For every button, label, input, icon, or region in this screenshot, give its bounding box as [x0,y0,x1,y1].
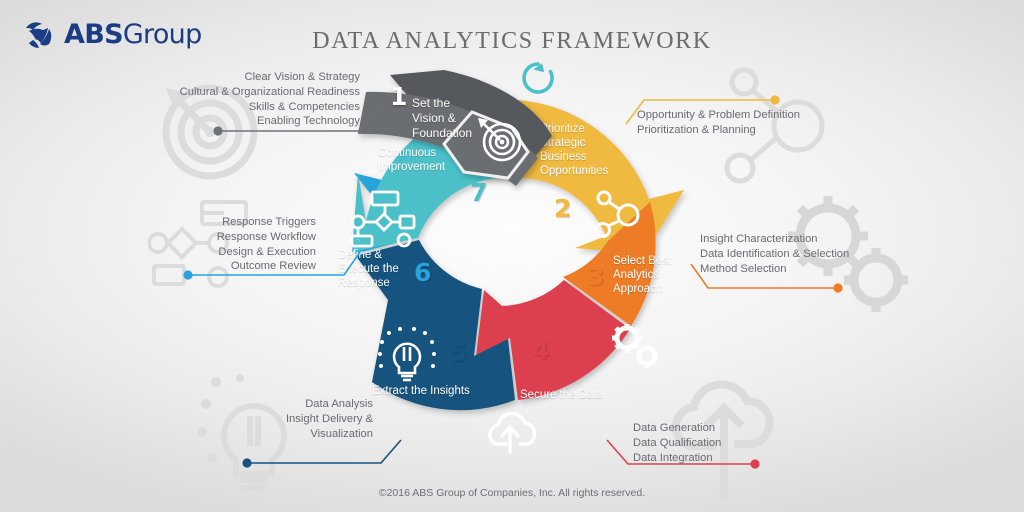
callout-step-6: Response Triggers Response Workflow Desi… [188,215,316,274]
copyright-footer: ©2016 ABS Group of Companies, Inc. All r… [0,487,1024,499]
callout-step-3: Insight Characterization Data Identifica… [700,232,900,276]
callout-step-1: Clear Vision & Strategy Cultural & Organ… [160,70,360,129]
callout-step-2: Opportunity & Problem Definition Priorit… [637,108,837,138]
callout-step-4: Data Generation Data Qualification Data … [633,421,813,465]
infographic-canvas: ABSGroup DATA ANALYTICS FRAMEWORK [0,0,1024,512]
callout-step-5: Data Analysis Insight Delivery & Visuali… [245,397,373,441]
